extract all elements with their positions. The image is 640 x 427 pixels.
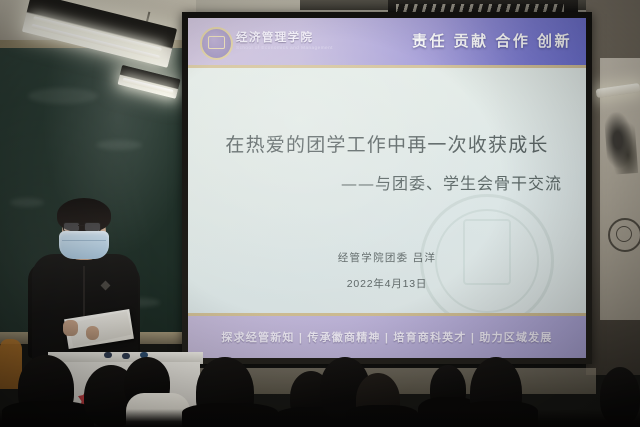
slide-subtitle: ——与团委、学生会骨干交流 (341, 170, 562, 194)
school-motto: 责任 贡献 合作 创新 (412, 30, 572, 51)
classroom-scene: 经济管理学院 School of Economics and Managemen… (0, 0, 640, 427)
school-name-en: School of Economics and Management (236, 45, 333, 50)
school-logo-icon (200, 27, 233, 60)
slide-date: 2022年4月13日 (188, 276, 586, 291)
foreground-shadow (0, 409, 640, 427)
projection-screen: 经济管理学院 School of Economics and Managemen… (188, 18, 586, 358)
school-name-cn: 经济管理学院 (236, 29, 313, 45)
glasses-bridge (78, 225, 84, 226)
presentation-slide: 经济管理学院 School of Economics and Managemen… (188, 18, 586, 358)
calligraphy-stroke (604, 111, 638, 175)
face-mask-fold (62, 240, 106, 241)
presenter-hand-right (86, 326, 99, 340)
projector-mount-grille (396, 4, 564, 12)
face-mask-icon (59, 231, 109, 259)
calligraphy-poster (600, 58, 640, 320)
slide-footer-text: 探求经管新知 | 传承徽商精神 | 培育商科英才 | 助力区域发展 (221, 329, 552, 345)
poster-seal-icon (608, 218, 640, 252)
slide-title: 在热爱的团学工作中再一次收获成长 (188, 130, 586, 157)
slide-header-bar: 经济管理学院 School of Economics and Managemen… (188, 18, 586, 65)
presenter (26, 196, 146, 371)
slide-footer-bar: 探求经管新知 | 传承徽商精神 | 培育商科英才 | 助力区域发展 (188, 316, 586, 358)
presenter-hand-left (63, 320, 78, 336)
header-gold-rule (188, 65, 586, 68)
slide-author: 经管学院团委 吕洋 (188, 250, 586, 265)
